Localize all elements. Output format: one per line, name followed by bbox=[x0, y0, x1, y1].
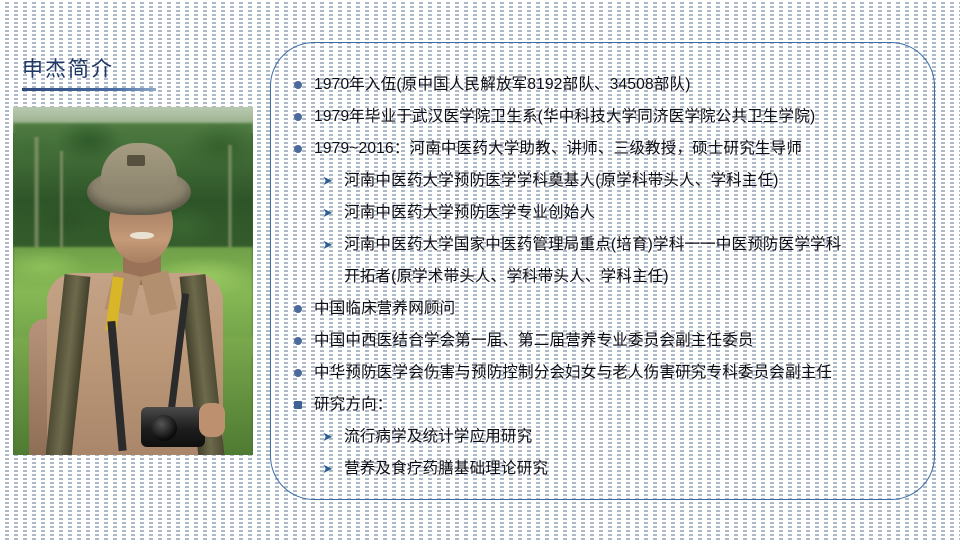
list-item-text: 河南中医药大学预防医学学科奠基人(原学科带头人、学科主任) bbox=[344, 166, 779, 195]
list-item-text: 中国中西医结合学会第一届、第二届营养专业委员会副主任委员 bbox=[314, 326, 754, 355]
page-title: 申杰简介 bbox=[22, 56, 252, 84]
list-item-text: 研究方向： bbox=[314, 390, 393, 419]
list-item-text: 开拓者(原学术带头人、学科带头人、学科主任) bbox=[344, 262, 669, 291]
bullet-none bbox=[322, 262, 344, 291]
list-item: 营养及食疗药膳基础理论研究 bbox=[292, 454, 932, 483]
title-block: 申杰简介 bbox=[22, 56, 252, 91]
bullet-dot-icon bbox=[292, 326, 314, 355]
photo-mouth bbox=[130, 232, 154, 239]
list-item-text: 1979~2016：河南中医药大学助教、讲师、三级教授，硕士研究生导师 bbox=[314, 134, 802, 163]
bullet-dot-icon bbox=[292, 70, 314, 99]
list-item-text: 1979年毕业于武汉医学院卫生系(华中科技大学同济医学院公共卫生学院) bbox=[314, 102, 815, 131]
list-item: 河南中医药大学国家中医药管理局重点(培育)学科一一中医预防医学学科 bbox=[292, 230, 932, 259]
list-item: 1979年毕业于武汉医学院卫生系(华中科技大学同济医学院公共卫生学院) bbox=[292, 102, 932, 131]
list-item: 中华预防医学会伤害与预防控制分会妇女与老人伤害研究专科委员会副主任 bbox=[292, 358, 932, 387]
photo-tree-trunk bbox=[227, 145, 233, 255]
list-item: 流行病学及统计学应用研究 bbox=[292, 422, 932, 451]
list-item: 研究方向： bbox=[292, 390, 932, 419]
list-item: 河南中医药大学预防医学专业创始人 bbox=[292, 198, 932, 227]
bullet-arrow-icon bbox=[322, 422, 344, 451]
bullet-dot-icon bbox=[292, 134, 314, 163]
list-item-text: 中华预防医学会伤害与预防控制分会妇女与老人伤害研究专科委员会副主任 bbox=[314, 358, 832, 387]
list-item-text: 河南中医药大学国家中医药管理局重点(培育)学科一一中医预防医学学科 bbox=[344, 230, 841, 259]
list-item-text: 中国临床营养网顾问 bbox=[314, 294, 455, 323]
bullet-arrow-icon bbox=[322, 230, 344, 259]
list-item-text: 营养及食疗药膳基础理论研究 bbox=[344, 454, 548, 483]
list-item-text: 1970年入伍(原中国人民解放军8192部队、34508部队) bbox=[314, 70, 691, 99]
bullet-arrow-icon bbox=[322, 198, 344, 227]
bullet-dot-icon bbox=[292, 358, 314, 387]
list-item: 中国临床营养网顾问 bbox=[292, 294, 932, 323]
list-item-text: 河南中医药大学预防医学专业创始人 bbox=[344, 198, 595, 227]
list-item: 河南中医药大学预防医学学科奠基人(原学科带头人、学科主任) bbox=[292, 166, 932, 195]
photo-tree-trunk bbox=[59, 151, 64, 255]
photo-tree-trunk bbox=[33, 137, 40, 255]
list-item: 开拓者(原学术带头人、学科带头人、学科主任) bbox=[292, 262, 932, 291]
bullet-dot-icon bbox=[292, 102, 314, 131]
list-item: 1979~2016：河南中医药大学助教、讲师、三级教授，硕士研究生导师 bbox=[292, 134, 932, 163]
bullet-arrow-icon bbox=[322, 454, 344, 483]
bullet-dot-icon bbox=[292, 294, 314, 323]
bullet-arrow-icon bbox=[322, 166, 344, 195]
photo-camera-lens bbox=[151, 415, 177, 441]
title-underline bbox=[22, 88, 156, 91]
bullet-list: 1970年入伍(原中国人民解放军8192部队、34508部队)1979年毕业于武… bbox=[292, 70, 932, 486]
list-item: 中国中西医结合学会第一届、第二届营养专业委员会副主任委员 bbox=[292, 326, 932, 355]
photo-hand bbox=[199, 403, 225, 437]
list-item-text: 流行病学及统计学应用研究 bbox=[344, 422, 532, 451]
portrait-photo bbox=[13, 107, 253, 455]
list-item: 1970年入伍(原中国人民解放军8192部队、34508部队) bbox=[292, 70, 932, 99]
slide-canvas: 申杰简介 1970年入伍(原中国人民解放军8192部队、34508部队)19 bbox=[0, 0, 960, 540]
bullet-square-icon bbox=[292, 390, 314, 419]
photo-hat-logo bbox=[127, 155, 145, 166]
